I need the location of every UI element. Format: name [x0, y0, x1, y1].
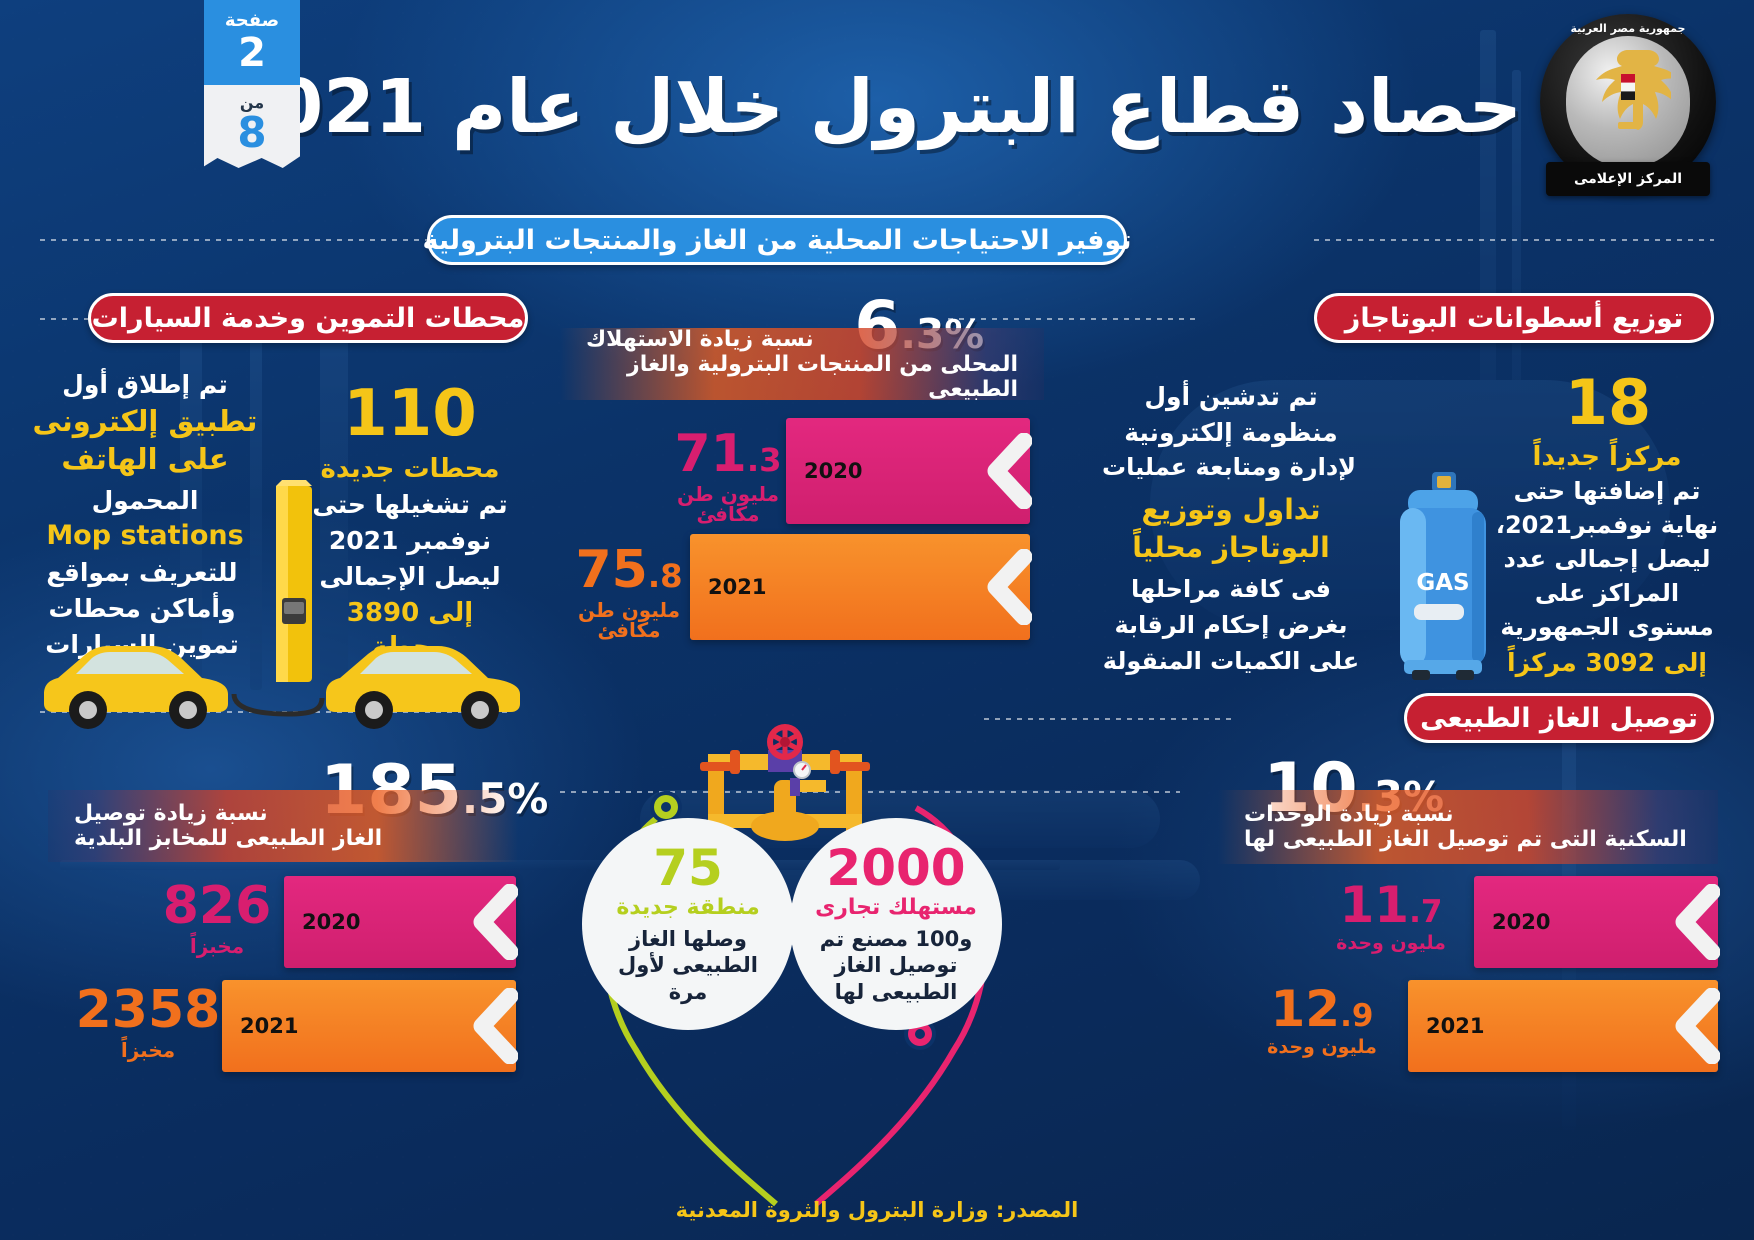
fuel-pump-icon: [262, 478, 326, 688]
butagas-body-1: تم تدشين أول: [1106, 380, 1356, 413]
butagas-body-highlight-1: تداول وتوزيع: [1106, 492, 1356, 529]
section-title-stations: محطات التموين وخدمة السيارات: [88, 293, 528, 343]
stations-right-text-3: نوفمبر 2021: [310, 524, 510, 557]
butagas-text-4: المراكز على: [1494, 578, 1720, 610]
housing-value-2020: 11.7 مليون وحدة: [1316, 880, 1466, 953]
consumption-value-2021: 75.8 مليون طن مكافئ: [544, 544, 714, 640]
butagas-number: 18: [1510, 372, 1706, 434]
stations-text-3: على الهاتف: [20, 440, 270, 478]
circle-commercial-desc: و100 مصنع تم توصيل الغاز الطبيعى لها: [812, 926, 980, 1005]
bakeries-value-2021-number: 2358: [66, 984, 230, 1036]
egypt-cabinet-logo: جمهورية مصر العربية رئاسة مجلس الوزراء ا…: [1540, 14, 1716, 190]
logo-top-text: جمهورية مصر العربية: [1540, 22, 1716, 35]
housing-bar-2020-year: 2020: [1492, 910, 1550, 934]
bakeries-bar-2020: 2020: [284, 876, 516, 968]
circle-regions-sub: منطقة جديدة: [616, 895, 759, 920]
consumption-value-2021-number: 75.8: [544, 544, 714, 596]
section-title-natgas: توصيل الغاز الطبيعى: [1404, 693, 1714, 743]
infographic-page: جمهورية مصر العربية رئاسة مجلس الوزراء ا…: [0, 0, 1754, 1240]
bakeries-bar-2021-year: 2021: [240, 1014, 298, 1038]
stations-right-text-2: تم تشغيلها حتى: [310, 488, 510, 521]
consumption-value-2020-number: 71.3: [648, 428, 808, 480]
stations-text-1: تم إطلاق أول: [30, 368, 260, 401]
consumption-caption: نسبة زيادة الاستهلاك المحلى من المنتجات …: [560, 328, 1044, 400]
bakeries-value-2020-number: 826: [142, 880, 292, 932]
consumption-bar-2020-year: 2020: [804, 459, 862, 483]
source-label: المصدر: وزارة البترول والثروة المعدنية: [0, 1198, 1754, 1222]
page-total: 8: [204, 112, 300, 154]
butagas-text-5: مستوى الجمهورية: [1490, 612, 1724, 644]
housing-caption: نسبة زيادة الوحدات السكنية التى تم توصيل…: [1218, 790, 1718, 864]
bakeries-caption-line1: نسبة زيادة توصيل: [74, 801, 268, 826]
chevron-left-icon: [974, 433, 1032, 509]
bakeries-bar-2021: 2021: [222, 980, 516, 1072]
circle-regions: 75 منطقة جديدة وصلها الغاز الطبيعى لأول …: [582, 818, 794, 1030]
chevron-left-icon: [1662, 884, 1720, 960]
butagas-body-5: بغرض إحكام الرقابة: [1094, 610, 1368, 642]
butagas-body-4: فى كافة مراحلها: [1106, 574, 1356, 606]
housing-bar-2021: 2021: [1408, 980, 1718, 1072]
housing-value-2021-unit: مليون وحدة: [1242, 1038, 1402, 1057]
node-green-icon: [654, 795, 678, 819]
housing-value-2020-number: 11.7: [1316, 880, 1466, 930]
circle-regions-desc: وصلها الغاز الطبيعى لأول مرة: [604, 926, 772, 1005]
butagas-body-highlight-2: البوتاجاز محلياً: [1106, 530, 1356, 567]
natgas-title-dots: [984, 718, 1234, 720]
housing-bar-2020: 2020: [1474, 876, 1718, 968]
circle-regions-number: 75: [653, 843, 723, 893]
stations-right-text-1: محطات جديدة: [310, 452, 510, 486]
butagas-text-3: ليصل إجمالى عدد: [1494, 544, 1720, 576]
bakeries-value-2020-unit: مخبزاً: [142, 936, 292, 956]
page-badge-top: صفحة 2: [204, 0, 300, 85]
butagas-body-3: لإدارة ومتابعة عمليات: [1084, 452, 1374, 484]
chevron-left-icon: [460, 988, 518, 1064]
gas-cylinder-icon: GAS: [1384, 470, 1502, 686]
fuel-hose-icon: [228, 690, 328, 718]
bakeries-bar-2020-year: 2020: [302, 910, 360, 934]
consumption-bar-2021: 2021: [690, 534, 1030, 640]
butagas-text-2: نهاية نوفمبر2021،: [1494, 510, 1720, 542]
butagas-number-sub: مركزاً جديداً: [1504, 440, 1710, 474]
butagas-text-6: إلى 3092 مركزاً: [1490, 646, 1724, 679]
car-right-icon: [318, 620, 528, 730]
gas-cylinder-label: GAS: [1416, 570, 1469, 596]
housing-caption-line1: نسبة زيادة الوحدات: [1244, 802, 1454, 827]
consumption-value-2020: 71.3 مليون طن مكافئ: [648, 428, 808, 524]
logo-ribbon-text: المركز الإعلامى: [1546, 162, 1710, 196]
circle-commercial-number: 2000: [826, 843, 965, 893]
bakeries-value-2021-unit: مخبزاً: [66, 1040, 230, 1060]
page-number: 2: [204, 33, 300, 73]
circle-commercial: 2000 مستهلك تجارى و100 مصنع تم توصيل الغ…: [790, 818, 1002, 1030]
housing-value-2020-unit: مليون وحدة: [1316, 934, 1466, 953]
consumption-caption-line1: نسبة زيادة الاستهلاك: [586, 327, 814, 352]
housing-bar-2021-year: 2021: [1426, 1014, 1484, 1038]
stations-text-2: تطبيق إلكترونى: [20, 402, 270, 440]
stations-number: 110: [310, 382, 510, 446]
consumption-value-2021-unit: مليون طن مكافئ: [544, 600, 714, 640]
banner-label: توفير الاحتياجات المحلية من الغاز والمنت…: [427, 215, 1127, 265]
housing-caption-line2: السكنية التى تم توصيل الغاز الطبيعى لها: [1244, 827, 1687, 852]
banner-dots-right: [1314, 239, 1714, 241]
chevron-left-icon: [974, 549, 1032, 625]
section-title-butagas: توزيع أسطوانات البوتاجاز: [1314, 293, 1714, 343]
stations-right-text-4: ليصل الإجمالى: [310, 560, 510, 593]
stations-text-6: للتعريف بمواقع: [14, 556, 270, 589]
bakeries-value-2020: 826 مخبزاً: [142, 880, 292, 956]
bakeries-value-2021: 2358 مخبزاً: [66, 984, 230, 1060]
page-badge-bottom: من 8: [204, 85, 300, 168]
consumption-value-2020-unit: مليون طن مكافئ: [648, 484, 808, 524]
butagas-body-2: منظومة إلكترونية: [1098, 416, 1364, 449]
housing-value-2021-number: 12.9: [1242, 984, 1402, 1034]
car-left-icon: [36, 620, 236, 730]
stations-text-4: المحمول: [20, 484, 270, 517]
consumption-bar-2020: 2020: [786, 418, 1030, 524]
bakeries-caption: نسبة زيادة توصيل الغاز الطبيعى للمخابز ا…: [48, 790, 518, 862]
stations-text-5: Mop stations: [20, 518, 270, 554]
butagas-title-dots: [948, 318, 1198, 320]
housing-value-2021: 12.9 مليون وحدة: [1242, 984, 1402, 1057]
circle-commercial-sub: مستهلك تجارى: [815, 895, 977, 920]
header: جمهورية مصر العربية رئاسة مجلس الوزراء ا…: [0, 0, 1754, 196]
chevron-left-icon: [460, 884, 518, 960]
eagle-emblem-icon: [1585, 44, 1671, 140]
consumption-caption-line2: المحلى من المنتجات البترولية والغاز الطب…: [586, 352, 1018, 402]
bakeries-caption-line2: الغاز الطبيعى للمخابز البلدية: [74, 826, 382, 851]
banner-dots-left: [40, 239, 440, 241]
page-label: صفحة: [204, 10, 300, 31]
butagas-body-6: على الكميات المنقولة: [1094, 646, 1368, 678]
page-title: حصاد قطاع البترول خلال عام 2021: [220, 70, 1522, 144]
chevron-left-icon: [1662, 988, 1720, 1064]
butagas-text-1: تم إضافتها حتى: [1500, 476, 1714, 508]
page-badge: صفحة 2 من 8: [204, 0, 300, 168]
consumption-bar-2021-year: 2021: [708, 575, 766, 599]
